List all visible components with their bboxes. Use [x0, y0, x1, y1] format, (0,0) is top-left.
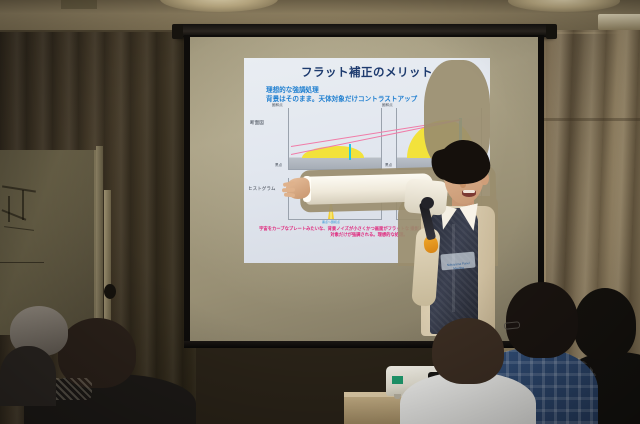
screen-mount-cap	[172, 24, 183, 39]
histogram-label: ヒストグラム	[248, 186, 275, 192]
audience-head	[506, 282, 578, 358]
screen-mount-cap	[546, 24, 557, 39]
whiteboard-edge	[96, 146, 103, 338]
curtain-seam	[540, 118, 640, 121]
presenter-finger	[282, 188, 295, 193]
whiteboard-marking	[0, 262, 44, 263]
presenter-finger	[284, 193, 295, 198]
left-signal-hump	[302, 146, 364, 158]
audience-shoulders	[0, 346, 56, 406]
left-marker-bar	[349, 144, 351, 160]
whiteboard-post	[104, 190, 111, 330]
whiteboard-knob	[104, 284, 116, 299]
left-panel-y-axis-right	[381, 108, 382, 170]
whiteboard-marking	[22, 190, 24, 220]
ceiling-light	[598, 14, 640, 30]
audience-head	[574, 288, 636, 360]
right-saturation-label: 飽和点	[382, 103, 393, 108]
left-black-label: 黒点	[275, 163, 282, 168]
profile-label: 断面図	[250, 120, 264, 126]
presentation-photo: フラット補正のメリット 理想的な強調処理 背景はそのまま。天体対象だけコントラス…	[0, 0, 640, 424]
projector-label	[392, 376, 403, 384]
left-base-slab	[289, 157, 381, 169]
presenter-teeth	[463, 190, 475, 193]
whiteboard-marking	[8, 196, 10, 222]
audience-head	[432, 318, 504, 384]
left-saturation-label: 飽和点	[272, 103, 283, 108]
ceiling-vent	[61, 0, 97, 9]
histogram-axis-note: 黒点〜飽和点	[322, 220, 340, 224]
presenter-badge: Nakayama Panel Meeting	[440, 252, 475, 271]
